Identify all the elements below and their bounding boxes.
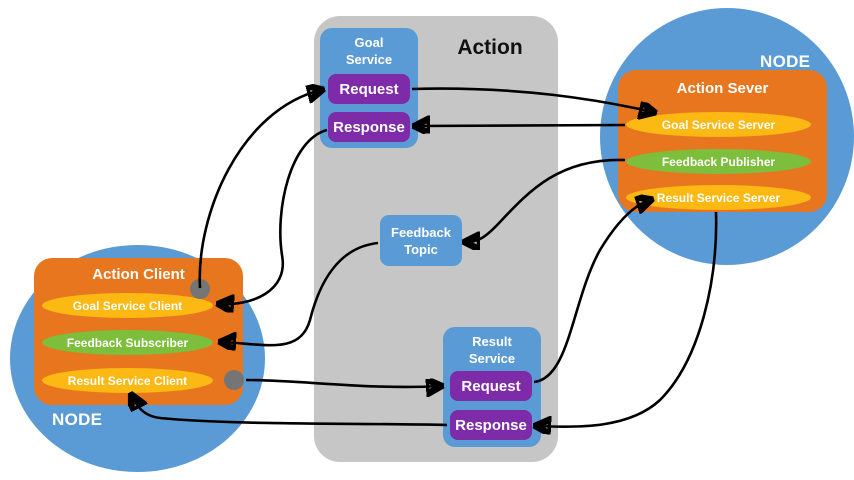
result-service-title-line2: Service [443, 350, 541, 367]
interface-label: Goal Service Client [73, 299, 182, 313]
feedback-topic-title-line1: Feedback [391, 224, 451, 241]
goal-service-request[interactable]: Request [328, 74, 410, 104]
feedback-topic-title-line2: Topic [391, 241, 451, 258]
goal-client-connector-dot [190, 279, 210, 299]
result-service-request[interactable]: Request [450, 371, 532, 401]
feedback-topic-box[interactable]: Feedback Topic [380, 215, 462, 266]
action-server-title: Action Sever [618, 80, 827, 97]
interface-label: Feedback Subscriber [67, 336, 188, 350]
client-node-label: NODE [52, 410, 102, 430]
action-client-title: Action Client [34, 266, 243, 283]
interface-label: Result Service Server [657, 191, 780, 205]
interface-label: Feedback Publisher [662, 155, 775, 169]
goal-service-response[interactable]: Response [328, 112, 410, 142]
goal-service-title-line2: Service [320, 51, 418, 68]
interface-result-service-client[interactable]: Result Service Client [42, 368, 213, 393]
goal-service-title-line1: Goal [320, 34, 418, 51]
result-service-response[interactable]: Response [450, 410, 532, 440]
result-service-title-line1: Result [443, 333, 541, 350]
interface-label: Goal Service Server [662, 118, 775, 132]
interface-feedback-subscriber[interactable]: Feedback Subscriber [42, 330, 213, 355]
result-client-connector-dot [224, 370, 244, 390]
interface-label: Result Service Client [68, 374, 187, 388]
interface-goal-service-client[interactable]: Goal Service Client [42, 293, 213, 318]
server-node-label: NODE [760, 52, 810, 72]
action-diagram-canvas: Action NODE Action Client Goal Service C… [0, 0, 854, 480]
interface-result-service-server[interactable]: Result Service Server [626, 185, 811, 210]
interface-feedback-publisher[interactable]: Feedback Publisher [626, 149, 811, 174]
interface-goal-service-server[interactable]: Goal Service Server [626, 112, 811, 137]
action-group-label: Action [430, 36, 550, 60]
